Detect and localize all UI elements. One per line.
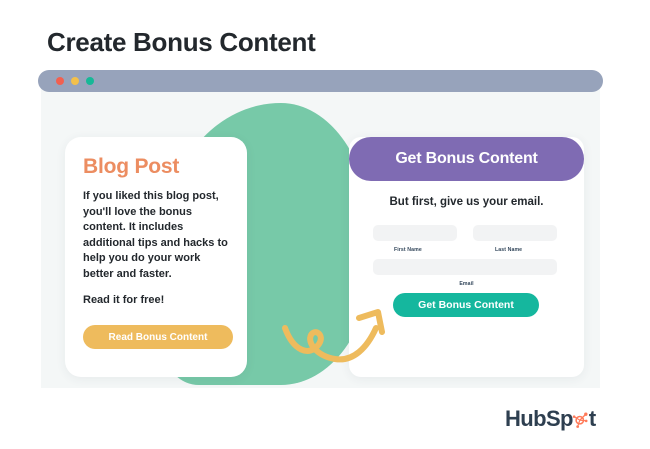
first-name-label: First Name (394, 247, 422, 253)
blog-post-cta-line: Read it for free! (83, 294, 164, 306)
minimize-dot-icon (71, 77, 79, 85)
blog-post-title: Blog Post (83, 155, 179, 179)
browser-viewport: Blog Post If you liked this blog post, y… (41, 88, 600, 388)
form-subtitle: But first, give us your email. (349, 196, 584, 208)
hubspot-sprocket-icon (572, 411, 589, 428)
blog-post-card: Blog Post If you liked this blog post, y… (65, 137, 247, 377)
first-name-input[interactable] (373, 225, 457, 241)
form-banner: Get Bonus Content (349, 137, 584, 181)
email-input[interactable] (373, 259, 557, 275)
hubspot-wordmark-prefix: HubSp (505, 406, 573, 432)
get-bonus-content-submit-button[interactable]: Get Bonus Content (393, 293, 539, 317)
hubspot-wordmark-suffix: t (589, 406, 596, 432)
browser-chrome-bar (38, 70, 603, 92)
blog-post-body: If you liked this blog post, you'll love… (83, 189, 233, 282)
read-bonus-content-button[interactable]: Read Bonus Content (83, 325, 233, 349)
hubspot-logo: HubSp t (505, 406, 596, 432)
last-name-label: Last Name (495, 247, 522, 253)
close-dot-icon (56, 77, 64, 85)
last-name-input[interactable] (473, 225, 557, 241)
browser-mockup: Blog Post If you liked this blog post, y… (38, 70, 608, 390)
page-title: Create Bonus Content (47, 27, 315, 58)
email-label: Email (349, 281, 584, 287)
curved-loop-arrow-icon (279, 288, 399, 378)
maximize-dot-icon (86, 77, 94, 85)
form-banner-label: Get Bonus Content (395, 150, 537, 168)
